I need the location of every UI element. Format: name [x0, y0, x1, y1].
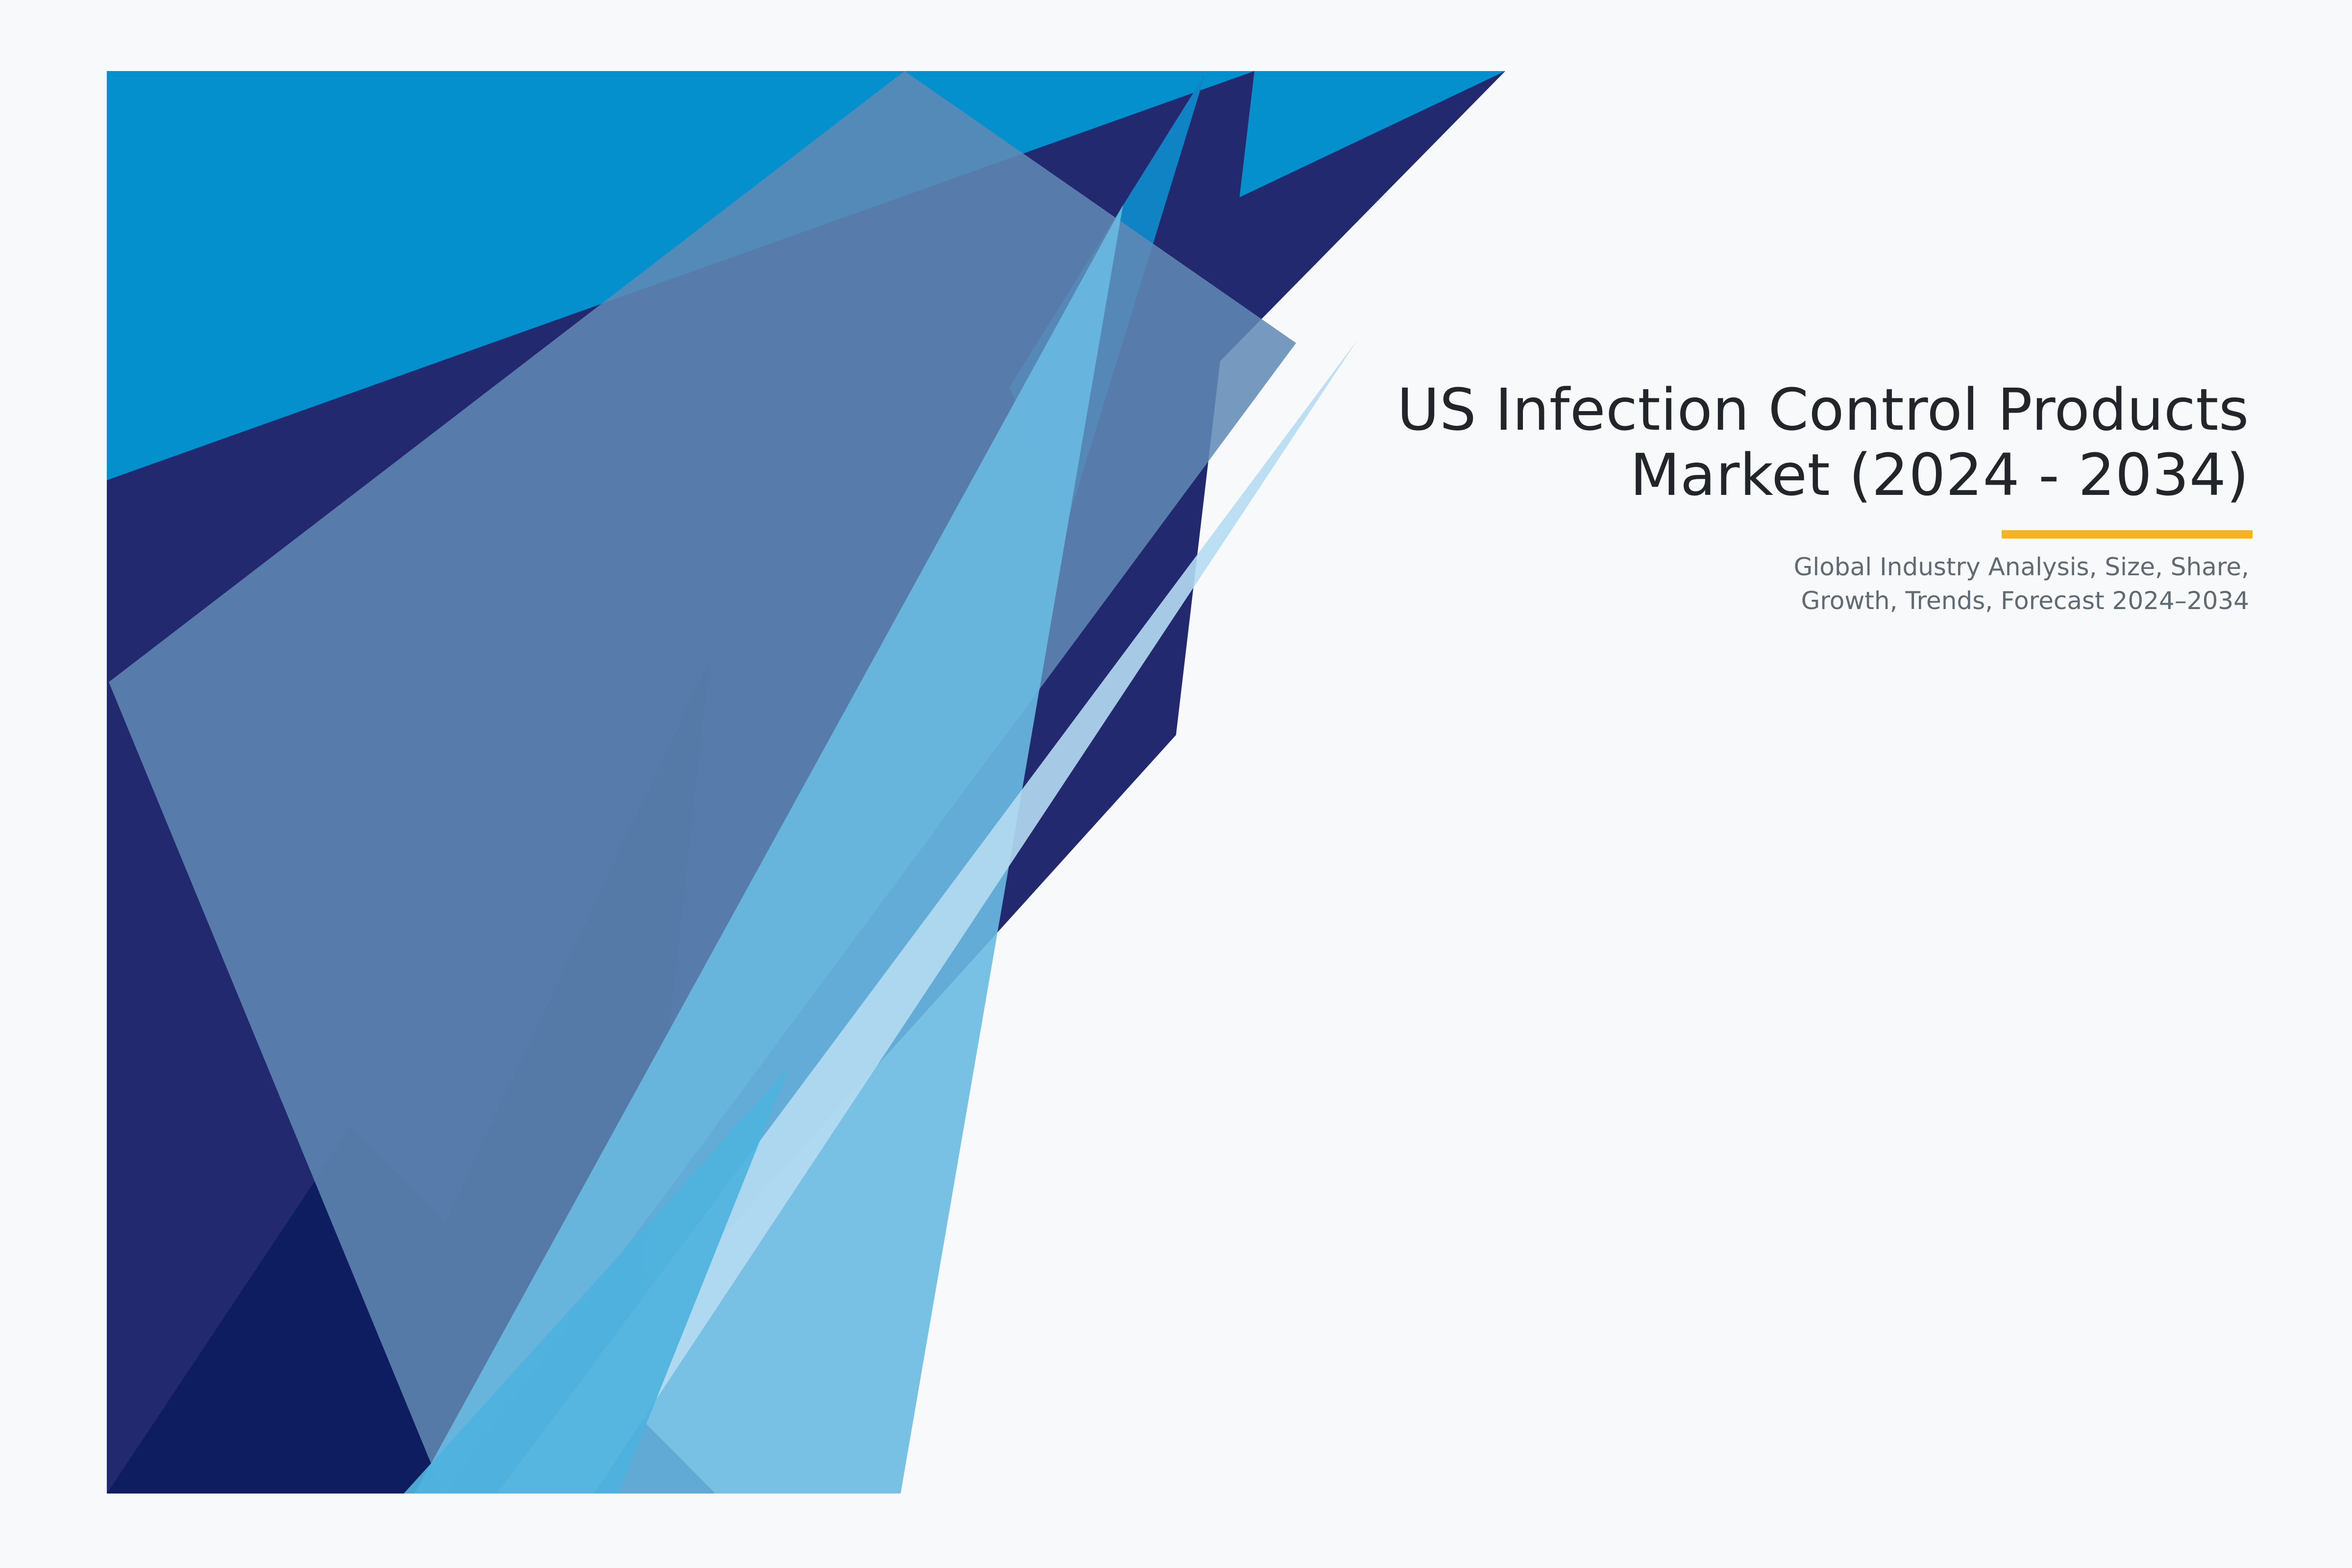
shape-deep-navy-lower: [107, 1127, 715, 1494]
shape-navy-left-body: [107, 71, 1254, 1494]
cover-text-block: US Infection Control Products Market (20…: [1053, 377, 2249, 618]
shape-sky-blue-lower-wedge: [404, 1066, 790, 1494]
shape-steel-blue-panel: [109, 71, 1296, 1494]
abstract-geometric-artwork: [0, 0, 2352, 1568]
page-subtitle: Global Industry Analysis, Size, Share, G…: [1053, 550, 2249, 618]
shape-cyan-top-block: [107, 71, 1505, 1494]
title-wrapper: US Infection Control Products Market (20…: [1053, 377, 2249, 508]
title-highlight-bar: [2002, 530, 2253, 539]
shape-navy-top-right-wedge: [107, 71, 1505, 1494]
shape-light-blue-beam: [415, 205, 1123, 1494]
shape-deep-navy-spike: [318, 661, 710, 1494]
page-title: US Infection Control Products Market (20…: [1053, 377, 2249, 508]
report-cover: US Infection Control Products Market (20…: [0, 0, 2352, 1568]
